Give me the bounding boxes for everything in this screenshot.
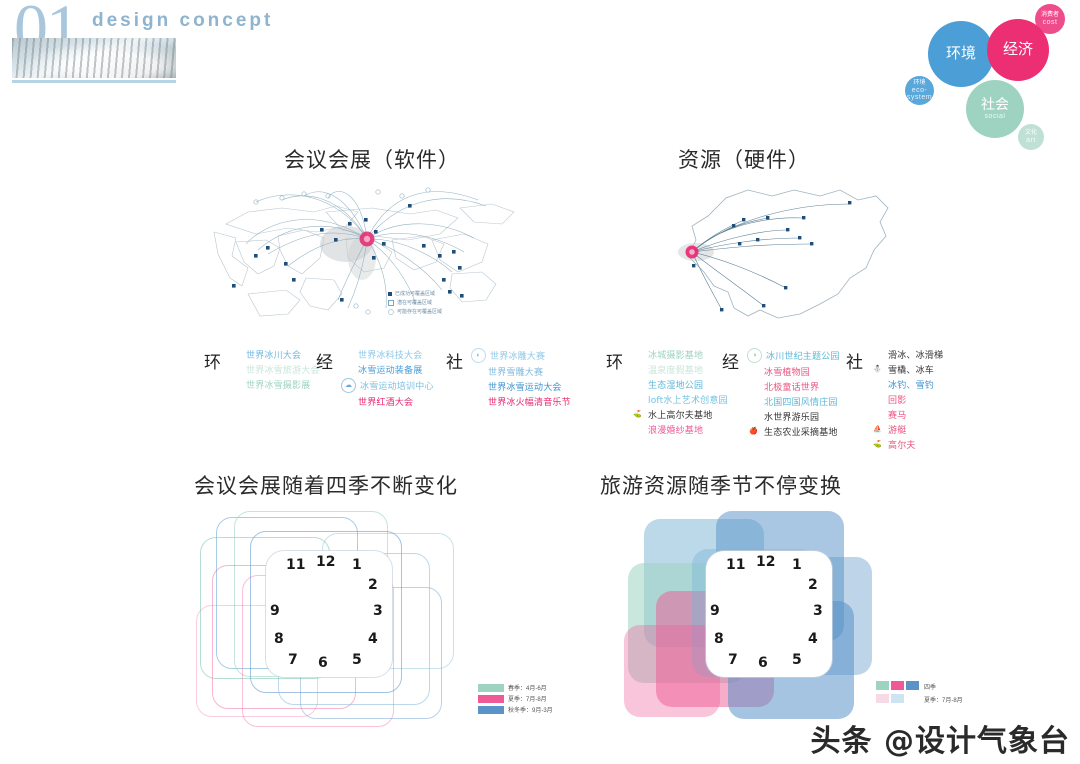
bubble-social-sub: social — [985, 113, 1006, 120]
map-legend-item: 潜在可覆盖区域 — [388, 299, 442, 308]
map-legend-label: 潜在可覆盖区域 — [397, 299, 432, 308]
legend-filled-square-icon — [388, 292, 392, 296]
park-icon: ◑ — [747, 348, 762, 363]
list-item[interactable]: ▲世界冰川大会 — [229, 348, 320, 361]
leaf-icon: ❧ — [631, 378, 644, 391]
camera-icon: ◉ — [631, 348, 644, 361]
map-legend-item: 可能存在可覆盖区域 — [388, 308, 442, 317]
clock-number: 8 — [274, 631, 284, 647]
bubble-small-left: 环境 eco-system — [905, 76, 934, 105]
sled-icon: ⛄ — [871, 363, 884, 376]
equipment-icon: ✦ — [341, 363, 354, 376]
clock-number: 4 — [808, 631, 818, 647]
legend-label: 秋冬季：9月-3月 — [508, 705, 553, 714]
list-item-label: 世界冰雪运动大会 — [488, 380, 562, 393]
list-item[interactable]: ♪世界冰火幅清音乐节 — [471, 395, 571, 408]
list-item[interactable]: ☁冰雪运动培训中心 — [341, 378, 434, 393]
list-item[interactable]: ♥浪漫婚纱基地 — [631, 423, 728, 436]
clock-number: 1 — [792, 557, 802, 573]
legend-swatch-summer — [478, 695, 504, 703]
legend-label: 夏季：7月-8月 — [508, 694, 547, 703]
left-map-title: 会议会展（软件） — [284, 144, 460, 174]
left-clock-face: 11 12 1 2 3 4 5 6 7 8 9 — [266, 551, 392, 677]
clock-number: 12 — [756, 554, 775, 570]
music-icon: ♪ — [471, 395, 484, 408]
bubble-small-topright-sub: cost — [1043, 19, 1058, 26]
world-map-graphic: 已成功可覆盖区域 潜在可覆盖区域 可能存在可覆盖区域 — [196, 182, 536, 322]
bubble-environment: 环境 — [928, 21, 994, 87]
legend-swatch-autumn-winter — [478, 706, 504, 714]
legend-swatch-spring — [478, 684, 504, 692]
list-item-label: 北极童话世界 — [764, 380, 819, 393]
list-item[interactable]: ⌂北极童话世界 — [747, 380, 840, 393]
left-clock-title: 会议会展随着四季不断变化 — [194, 470, 458, 500]
gear-icon: ✳ — [341, 348, 354, 361]
list-item-label: 冰雪植物园 — [764, 365, 810, 378]
legend-hollow-square-icon — [388, 300, 394, 306]
clock-number: 6 — [318, 655, 328, 671]
list-item[interactable]: ⛸滑冰、冰滑梯 — [871, 348, 943, 361]
plant-icon: ✿ — [747, 365, 760, 378]
left-group-soc: 社 ◐世界冰雕大赛 ❄世界雪雕大赛 ⛷世界冰雪运动大会 ♪世界冰火幅清音乐节 — [446, 348, 571, 408]
list-item[interactable]: ◑冰川世纪主题公园 — [747, 348, 840, 363]
house-icon: ⌂ — [747, 395, 760, 408]
right-map-title: 资源（硬件） — [678, 144, 810, 174]
legend-title: 四季 — [924, 682, 936, 691]
legend-row: 秋冬季：9月-3月 — [478, 705, 553, 714]
left-group-eco: 经 ✳世界冰科技大会 ✦冰雪运动装备展 ☁冰雪运动培训中心 ▮世界红酒大会 — [316, 348, 434, 408]
list-item[interactable]: ♘赛马 — [871, 408, 943, 421]
list-item[interactable]: ◉冰城摄影基地 — [631, 348, 728, 361]
list-item-label: 世界冰火幅清音乐节 — [488, 395, 571, 408]
right-clock-face: 11 12 1 2 3 4 5 6 7 8 9 — [706, 551, 832, 677]
right-group-soc: 社 ⛸滑冰、冰滑梯 ⛄雪橇、冰车 ✱冰钓、雪钓 ◉回影 ♘赛马 ⛵游艇 ⛳高尔夫 — [846, 348, 943, 451]
list-item-label: 生态农业采摘基地 — [764, 425, 838, 438]
map-legend-label: 已成功可覆盖区域 — [395, 290, 435, 299]
horse-icon: ♘ — [871, 408, 884, 421]
mountain-icon: ▲ — [229, 348, 242, 361]
clock-number: 5 — [352, 652, 362, 668]
map-legend-item: 已成功可覆盖区域 — [388, 290, 442, 299]
right-group-env-list: ◉冰城摄影基地 ♨温泉度假基地 ❧生态湿地公园 ✎loft水上艺术创意园 ⛳水上… — [631, 348, 728, 436]
clock-number: 9 — [270, 603, 280, 619]
list-item[interactable]: ♨温泉度假基地 — [631, 363, 728, 376]
list-item-label: 冰钓、雪钓 — [888, 378, 934, 391]
list-item-label: 赛马 — [888, 408, 906, 421]
list-item-label: 世界冰科技大会 — [358, 348, 422, 361]
list-item-label: 回影 — [888, 393, 906, 406]
camera-icon: ◉ — [871, 393, 884, 406]
list-item[interactable]: ❄世界雪雕大赛 — [471, 365, 571, 378]
list-item-label: 世界冰雕大赛 — [490, 349, 545, 362]
list-item[interactable]: ◐世界冰雕大赛 — [471, 348, 571, 363]
cloud-icon: ☁ — [341, 378, 356, 393]
right-group-eco: 经 ◑冰川世纪主题公园 ✿冰雪植物园 ⌂北极童话世界 ⌂北国四国风情庄园 ≈水世… — [722, 348, 840, 438]
right-group-eco-list: ◑冰川世纪主题公园 ✿冰雪植物园 ⌂北极童话世界 ⌂北国四国风情庄园 ≈水世界游… — [747, 348, 840, 438]
clock-number: 4 — [368, 631, 378, 647]
list-item[interactable]: ✦冰雪运动装备展 — [341, 363, 434, 376]
legend-swatch-spring — [876, 681, 889, 690]
heart-icon: ♥ — [631, 423, 644, 436]
list-item[interactable]: ⛳高尔夫 — [871, 438, 943, 451]
left-group-env-label: 环 — [204, 348, 221, 373]
concept-bubble-diagram: 环境 eco-system 消费者 cost 文化 art 环境 经济 社会 s… — [888, 0, 1078, 172]
clock-number: 11 — [286, 557, 305, 573]
list-item-label: 生态湿地公园 — [648, 378, 703, 391]
ice-icon: ◐ — [471, 348, 486, 363]
list-item-label: 冰川世纪主题公园 — [766, 349, 840, 362]
legend-swatch-pale-pink — [876, 694, 889, 703]
list-item[interactable]: ◉回影 — [871, 393, 943, 406]
left-group-soc-label: 社 — [446, 348, 463, 373]
list-item[interactable]: ≈水世界游乐园 — [747, 410, 840, 423]
clock-number: 9 — [710, 603, 720, 619]
province-map-graphic — [652, 182, 912, 322]
clock-number: 6 — [758, 655, 768, 671]
snow-icon: ❄ — [471, 365, 484, 378]
list-item[interactable]: ✱冰钓、雪钓 — [871, 378, 943, 391]
legend-label: 春季：4月-6月 — [508, 683, 547, 692]
list-item-label: loft水上艺术创意园 — [648, 393, 728, 406]
list-item-label: 世界冰雪摄影展 — [246, 378, 310, 391]
left-group-eco-label: 经 — [316, 348, 333, 373]
list-item[interactable]: ⌂北国四国风情庄园 — [747, 395, 840, 408]
list-item[interactable]: ❧生态湿地公园 — [631, 378, 728, 391]
clock-number: 2 — [368, 577, 378, 593]
list-item-label: 浪漫婚纱基地 — [648, 423, 703, 436]
list-item[interactable]: ✎loft水上艺术创意园 — [631, 393, 728, 406]
clock-number: 7 — [288, 652, 298, 668]
list-item[interactable]: ▮世界红酒大会 — [341, 395, 434, 408]
header-photo — [12, 38, 176, 78]
globe-icon: ● — [229, 363, 242, 376]
right-group-env: 环 ◉冰城摄影基地 ♨温泉度假基地 ❧生态湿地公园 ✎loft水上艺术创意园 ⛳… — [606, 348, 728, 436]
right-clock-title: 旅游资源随季节不停变换 — [600, 470, 842, 500]
section-title-en: design concept — [92, 10, 273, 32]
bubble-small-left-sub: eco-system — [905, 87, 934, 101]
left-group-env: 环 ▲世界冰川大会 ●世界冰雪旅游大会 ◉世界冰雪摄影展 — [204, 348, 320, 391]
list-item-label: 高尔夫 — [888, 438, 916, 451]
list-item[interactable]: ⛷世界冰雪运动大会 — [471, 380, 571, 393]
list-item-label: 水世界游乐园 — [764, 410, 819, 423]
right-season-legend: 四季 夏季：7月-8月 — [876, 681, 963, 705]
legend-sub-label: 夏季：7月-8月 — [924, 695, 963, 704]
map-legend-label: 可能存在可覆盖区域 — [397, 308, 442, 317]
list-item[interactable]: ●世界冰雪旅游大会 — [229, 363, 320, 376]
list-item-label: 冰城摄影基地 — [648, 348, 703, 361]
list-item-label: 温泉度假基地 — [648, 363, 703, 376]
list-item-label: 雪橇、冰车 — [888, 363, 934, 376]
left-group-eco-list: ✳世界冰科技大会 ✦冰雪运动装备展 ☁冰雪运动培训中心 ▮世界红酒大会 — [341, 348, 434, 408]
left-seasonal-clock: 11 12 1 2 3 4 5 6 7 8 9 — [190, 505, 490, 735]
bubble-small-bottomright: 文化 art — [1018, 124, 1044, 150]
spa-icon: ♨ — [631, 363, 644, 376]
list-item[interactable]: ✿冰雪植物园 — [747, 365, 840, 378]
legend-row: 夏季：7月-8月 — [478, 694, 553, 703]
legend-swatch-autumn-winter — [906, 681, 919, 690]
list-item-label: 世界雪雕大赛 — [488, 365, 543, 378]
list-item-label: 游艇 — [888, 423, 906, 436]
legend-swatch-group — [876, 694, 919, 703]
right-group-soc-list: ⛸滑冰、冰滑梯 ⛄雪橇、冰车 ✱冰钓、雪钓 ◉回影 ♘赛马 ⛵游艇 ⛳高尔夫 — [871, 348, 943, 451]
left-season-legend: 春季：4月-6月 夏季：7月-8月 秋冬季：9月-3月 — [478, 683, 553, 716]
right-group-env-label: 环 — [606, 348, 623, 373]
list-item-label: 滑冰、冰滑梯 — [888, 348, 943, 361]
bubble-social: 社会 social — [966, 80, 1024, 138]
clock-number: 7 — [728, 652, 738, 668]
bubble-environment-label: 环境 — [946, 46, 976, 62]
list-item-label: 世界红酒大会 — [358, 395, 413, 408]
province-map-svg — [652, 182, 912, 322]
world-map-legend: 已成功可覆盖区域 潜在可覆盖区域 可能存在可覆盖区域 — [388, 290, 442, 316]
list-item-label: 水上高尔夫基地 — [648, 408, 712, 421]
list-item-label: 北国四国风情庄园 — [764, 395, 838, 408]
boat-icon: ⛵ — [871, 423, 884, 436]
skate-icon: ⛸ — [871, 348, 884, 361]
right-group-eco-label: 经 — [722, 348, 739, 373]
water-icon: ≈ — [747, 410, 760, 423]
clock-number: 3 — [373, 603, 383, 619]
watermark: 头条 @设计气象台 — [811, 716, 1070, 760]
fruit-icon: 🍎 — [747, 425, 760, 438]
left-group-env-list: ▲世界冰川大会 ●世界冰雪旅游大会 ◉世界冰雪摄影展 — [229, 348, 320, 391]
clock-number: 5 — [792, 652, 802, 668]
bubble-economy-label: 经济 — [1003, 42, 1033, 58]
list-item-label: 冰雪运动装备展 — [358, 363, 422, 376]
legend-swatch-group — [876, 681, 919, 690]
list-item[interactable]: ◉世界冰雪摄影展 — [229, 378, 320, 391]
bubble-economy: 经济 — [987, 19, 1049, 81]
page-header: 01 design concept — [0, 0, 300, 92]
header-divider — [12, 80, 176, 83]
right-group-soc-label: 社 — [846, 348, 863, 373]
art-icon: ✎ — [631, 393, 644, 406]
legend-row: 春季：4月-6月 — [478, 683, 553, 692]
left-group-soc-list: ◐世界冰雕大赛 ❄世界雪雕大赛 ⛷世界冰雪运动大会 ♪世界冰火幅清音乐节 — [471, 348, 571, 408]
castle-icon: ⌂ — [747, 380, 760, 393]
legend-swatch-pale-blue — [891, 694, 904, 703]
bubble-social-label: 社会 — [981, 98, 1009, 113]
list-item-label: 冰雪运动培训中心 — [360, 379, 434, 392]
world-map-svg — [196, 182, 536, 322]
wine-icon: ▮ — [341, 395, 354, 408]
list-item[interactable]: ⛵游艇 — [871, 423, 943, 436]
list-item-label: 世界冰雪旅游大会 — [246, 363, 320, 376]
fish-icon: ✱ — [871, 378, 884, 391]
legend-swatch-white — [906, 694, 919, 703]
ski-icon: ⛷ — [471, 380, 484, 393]
clock-number: 1 — [352, 557, 362, 573]
golf-icon: ⛳ — [631, 408, 644, 421]
list-item[interactable]: ✳世界冰科技大会 — [341, 348, 434, 361]
legend-circle-icon — [388, 309, 394, 315]
clock-number: 12 — [316, 554, 335, 570]
bubble-small-bottomright-sub: art — [1026, 137, 1036, 144]
list-item[interactable]: ⛳水上高尔夫基地 — [631, 408, 728, 421]
clock-number: 2 — [808, 577, 818, 593]
list-item[interactable]: 🍎生态农业采摘基地 — [747, 425, 840, 438]
golf-icon: ⛳ — [871, 438, 884, 451]
clock-number: 3 — [813, 603, 823, 619]
list-item-label: 世界冰川大会 — [246, 348, 301, 361]
clock-number: 11 — [726, 557, 745, 573]
list-item[interactable]: ⛄雪橇、冰车 — [871, 363, 943, 376]
legend-swatch-summer — [891, 681, 904, 690]
clock-number: 8 — [714, 631, 724, 647]
camera-icon: ◉ — [229, 378, 242, 391]
